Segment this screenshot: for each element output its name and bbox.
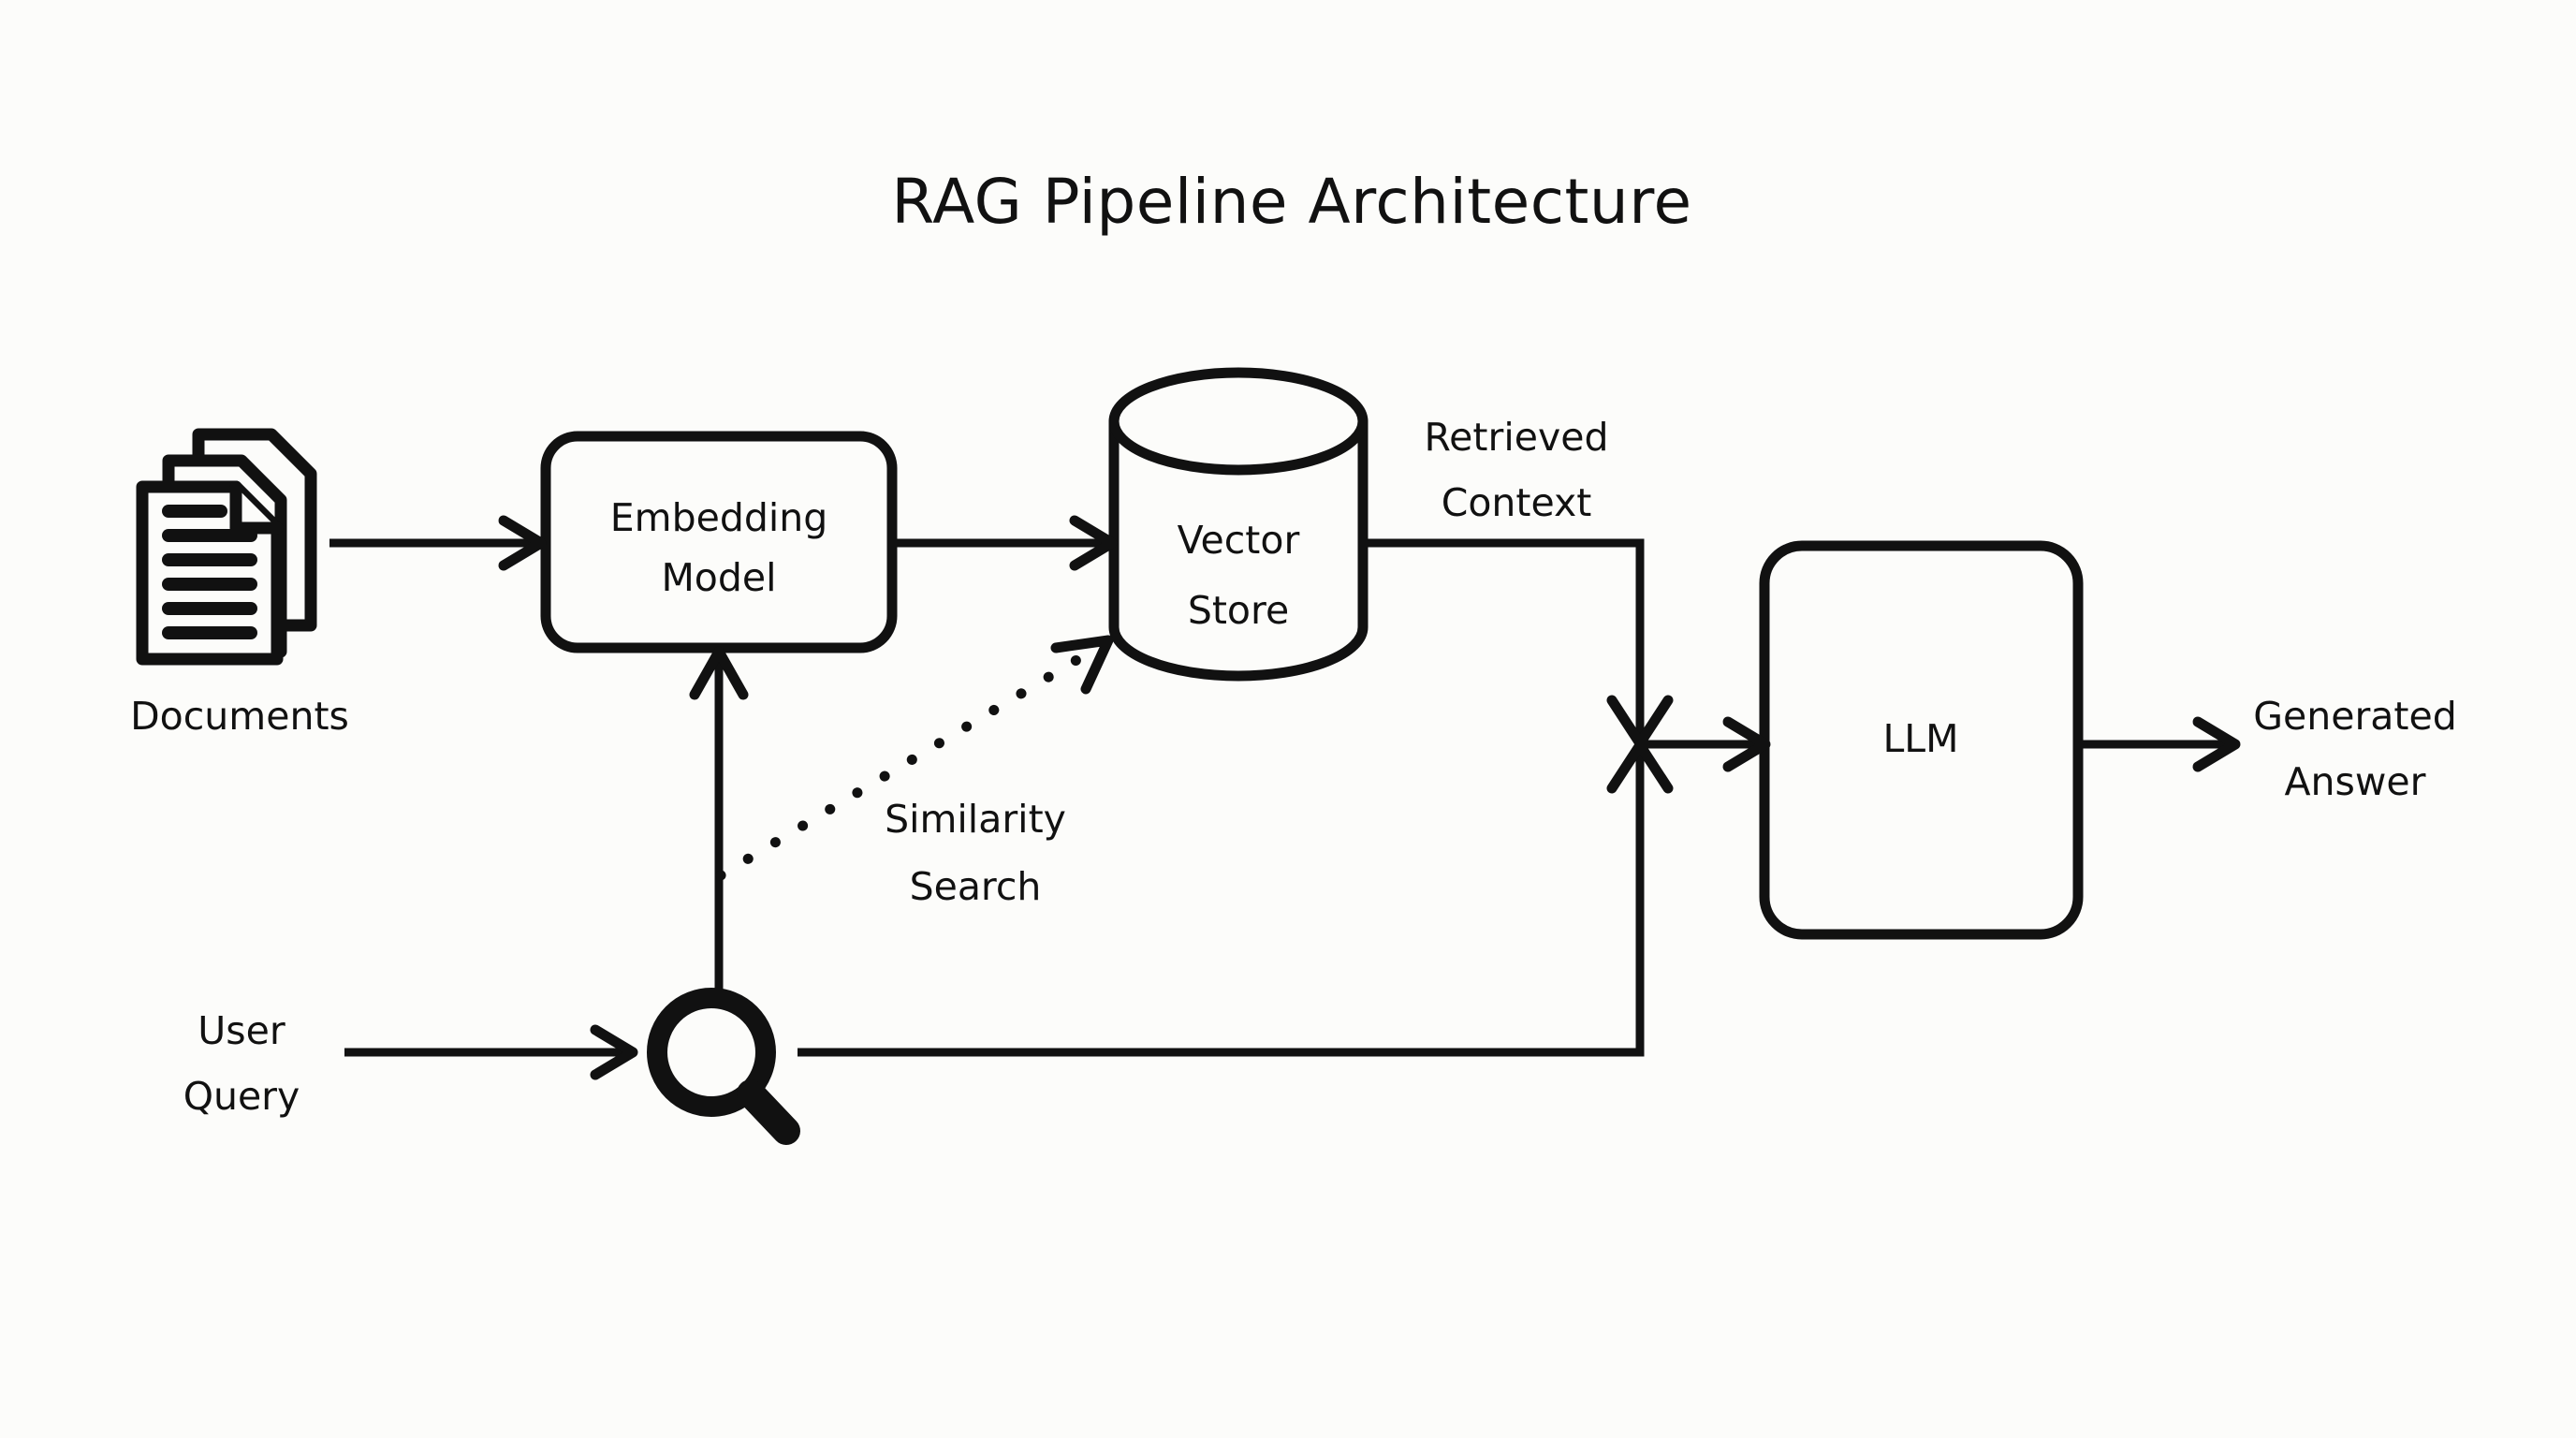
similarity-search-label-line1: Similarity [885,797,1066,842]
documents-label: Documents [130,694,349,739]
magnifier-handle[interactable] [751,1093,786,1131]
edge-user-query-to-search [344,1030,633,1075]
retrieved-context-label-line1: Retrieved [1425,415,1609,460]
page-title: RAG Pipeline Architecture [891,166,1691,238]
magnifying-glass-icon[interactable] [657,998,786,1131]
vector-store-label-line2: Store [1188,588,1289,633]
llm-node[interactable]: LLM [1764,546,2078,934]
edge-llm-to-answer [2078,722,2235,767]
retrieved-context-label-line2: Context [1442,480,1592,525]
embedding-model-node[interactable]: Embedding Model [546,436,892,648]
user-query-label-line1: User [198,1008,285,1053]
documents-stack-icon [142,434,311,659]
rag-pipeline-diagram: RAG Pipeline Architecture Documents Embe… [0,0,2576,1438]
generated-answer-label: Generated Answer [2253,694,2457,804]
edge-search-to-embedding [695,652,743,992]
edge-embedding-to-vector-store [892,521,1112,565]
llm-label: LLM [1882,716,1958,761]
edge-search-to-vector-store: Similarity Search [721,640,1108,909]
embedding-model-box[interactable] [546,436,892,648]
edge-vector-store-to-llm: Retrieved Context [1363,415,1668,743]
vector-store-label-line1: Vector [1178,518,1300,563]
embedding-model-label-line2: Model [661,555,776,600]
edge-documents-to-embedding [329,521,541,565]
user-query-label: User Query [183,1008,300,1119]
user-query-label-line2: Query [183,1074,300,1119]
generated-answer-label-line1: Generated [2253,694,2457,739]
similarity-search-label-line2: Search [910,864,1042,909]
edge-search-to-vector-store-arrowhead [1056,640,1108,689]
edge-vector-store-to-llm-line [1363,543,1640,740]
vector-store-cylinder-top[interactable] [1114,373,1363,470]
generated-answer-label-line2: Answer [2284,759,2425,804]
embedding-model-label-line1: Embedding [610,495,828,540]
diagram-canvas: RAG Pipeline Architecture Documents Embe… [0,0,2576,1438]
vector-store-node[interactable]: Vector Store [1114,373,1363,676]
